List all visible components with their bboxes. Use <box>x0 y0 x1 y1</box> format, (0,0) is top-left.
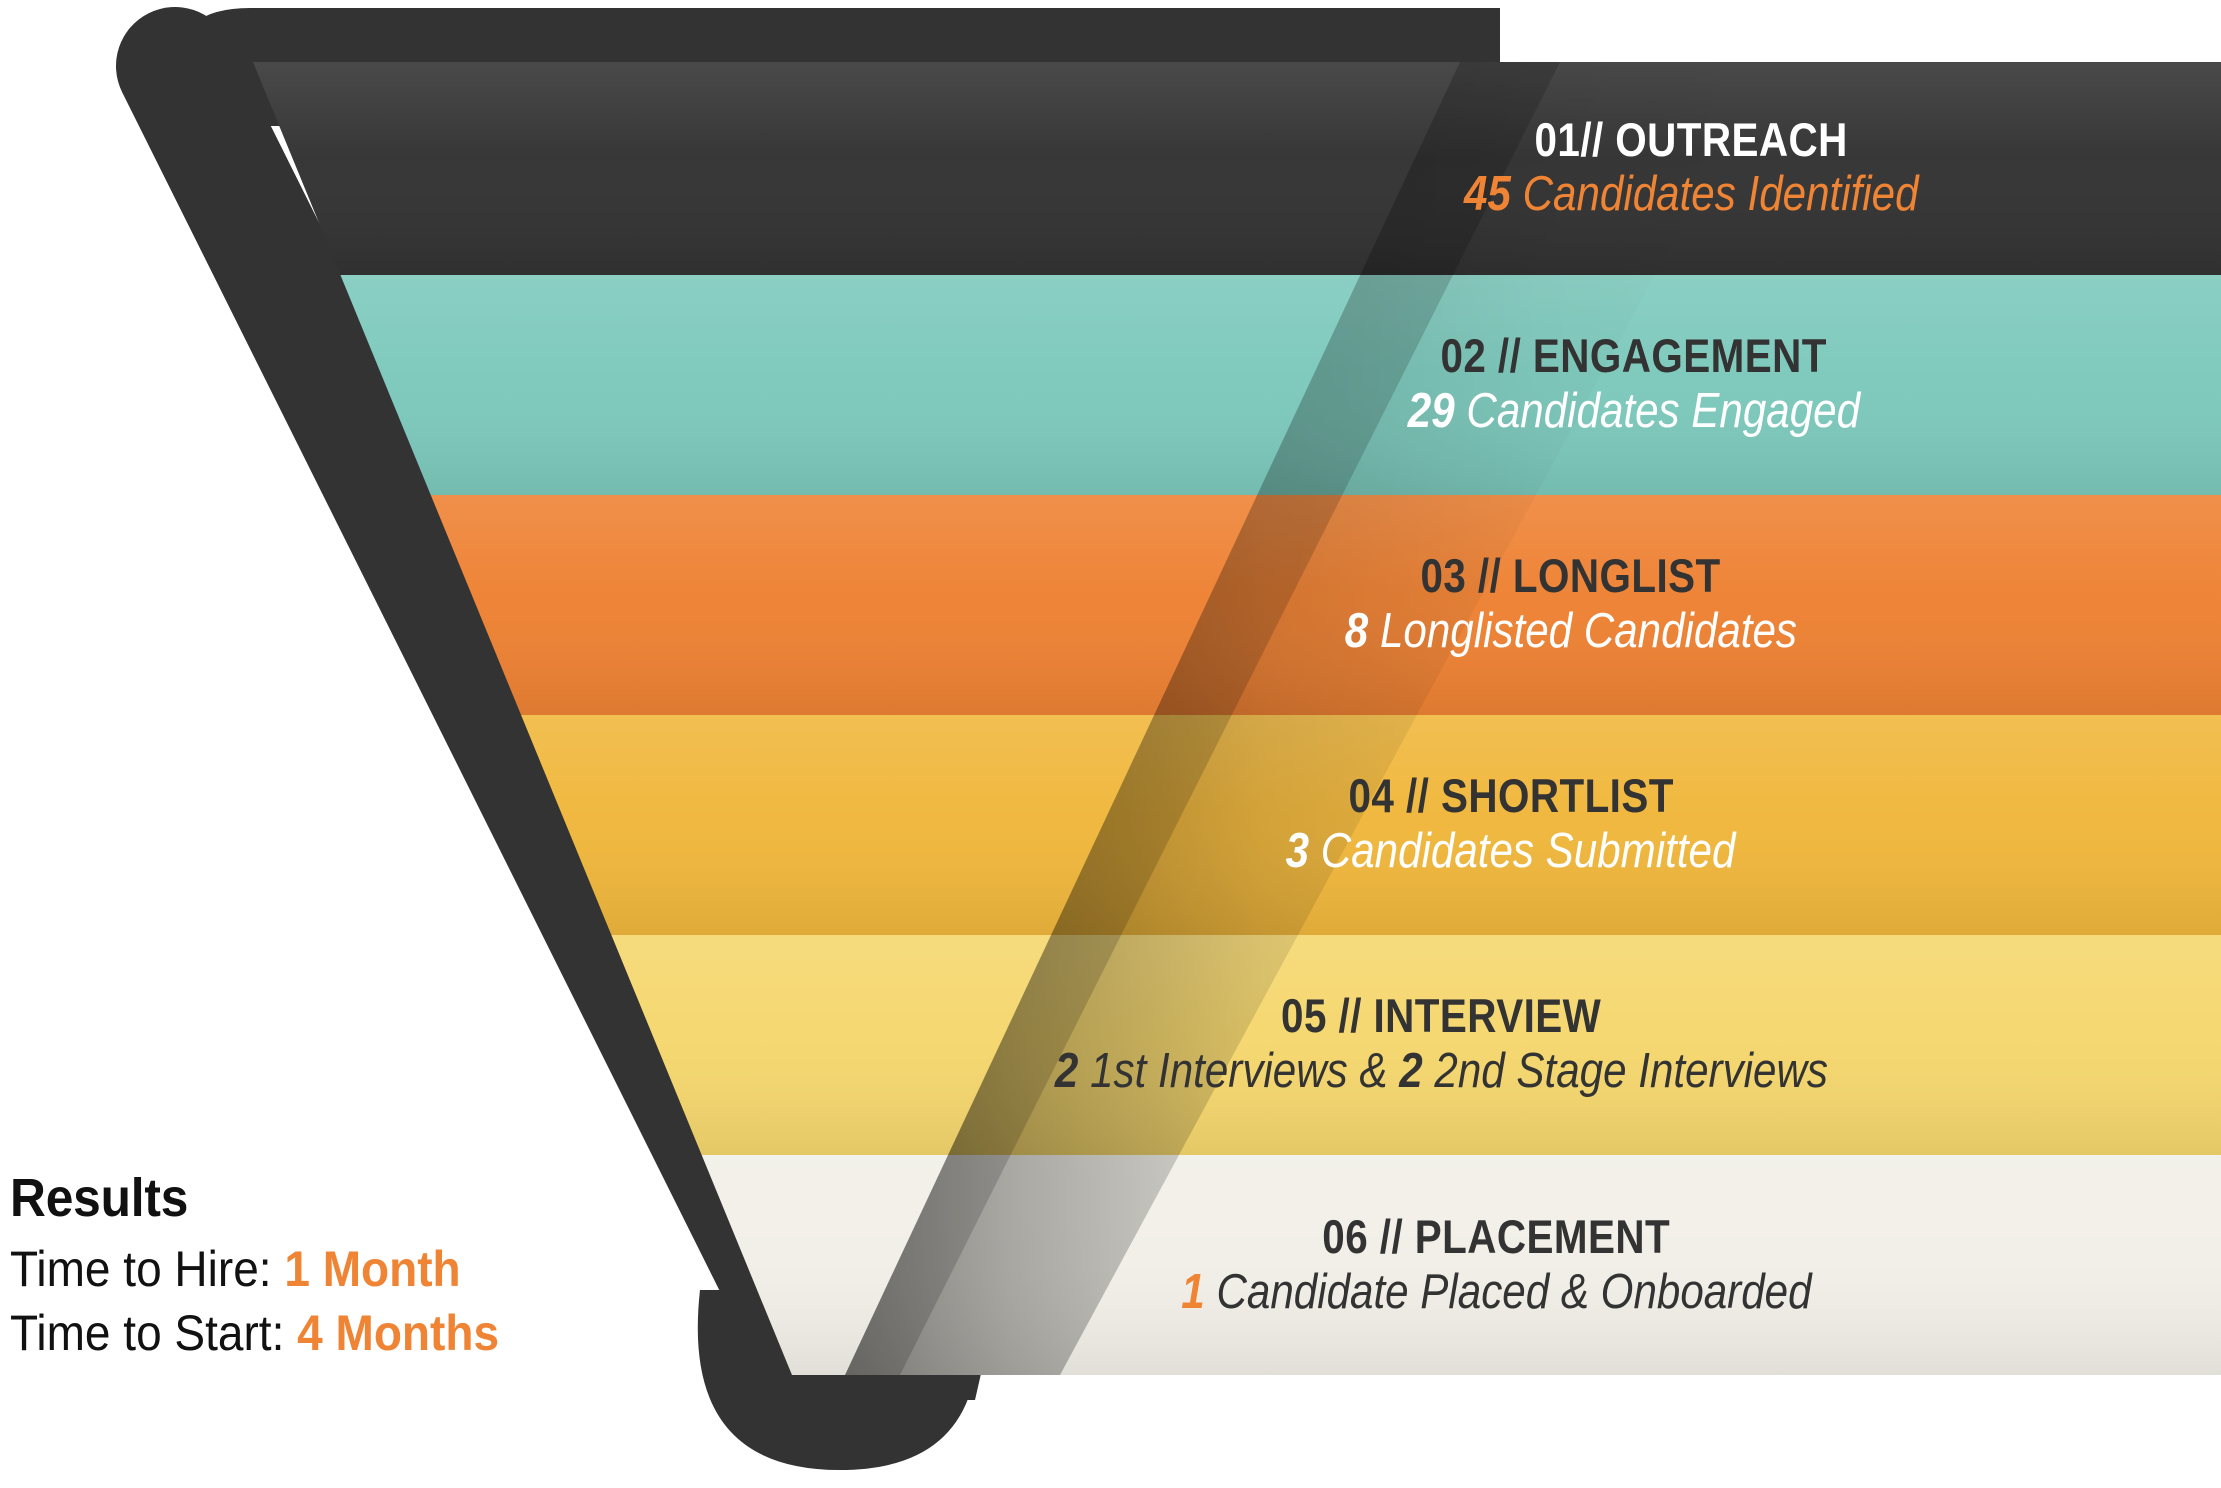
stage-count-interview-first: 2 <box>1054 1044 1077 1098</box>
results-time-to-start-value: 4 Months <box>297 1305 499 1361</box>
stage-subtext-placement: Candidate Placed & Onboarded <box>1216 1265 1811 1319</box>
results-time-to-hire-label: Time to Hire: <box>10 1241 272 1297</box>
stage-subtext-shortlist: Candidates Submitted <box>1321 824 1736 878</box>
stage-count-interview-second: 2 <box>1399 1044 1422 1098</box>
stage-title-engagement: 02 // ENGAGEMENT <box>1440 331 1826 381</box>
stage-row-outreach: 01// OUTREACH 45 Candidates Identified <box>1161 62 2221 275</box>
stage-subtitle-interview: 2 1st Interviews & 2 2nd Stage Interview… <box>1054 1045 1827 1099</box>
stage-count-engagement: 29 <box>1407 384 1454 438</box>
stage-row-longlist: 03 // LONGLIST 8 Longlisted Candidates <box>921 495 2221 715</box>
results-heading: Results <box>10 1167 599 1229</box>
stage-subtitle-longlist: 8 Longlisted Candidates <box>1345 605 1797 659</box>
results-time-to-hire: Time to Hire: 1 Month <box>10 1237 599 1301</box>
stage-title-interview: 05 // INTERVIEW <box>1281 991 1601 1041</box>
stage-subtitle-shortlist: 3 Candidates Submitted <box>1286 825 1736 879</box>
stage-row-placement: 06 // PLACEMENT 1 Candidate Placed & Onb… <box>771 1155 2221 1377</box>
stage-row-interview: 05 // INTERVIEW 2 1st Interviews & 2 2nd… <box>661 935 2221 1155</box>
stage-count-longlist: 8 <box>1345 604 1368 658</box>
stage-subtitle-engagement: 29 Candidates Engaged <box>1407 385 1859 439</box>
funnel-diagram: 01// OUTREACH 45 Candidates Identified 0… <box>0 0 2221 1488</box>
stage-count-placement: 1 <box>1181 1265 1204 1319</box>
stage-title-longlist: 03 // LONGLIST <box>1421 551 1721 601</box>
stage-row-engagement: 02 // ENGAGEMENT 29 Candidates Engaged <box>1046 275 2221 495</box>
stage-subtext-outreach: Candidates Identified <box>1522 167 1918 221</box>
stage-subtext-interview-second: 2nd Stage Interviews <box>1434 1044 1828 1098</box>
stage-subtitle-outreach: 45 Candidates Identified <box>1464 168 1919 222</box>
stage-subtext-engagement: Candidates Engaged <box>1466 384 1860 438</box>
results-time-to-start-label: Time to Start: <box>10 1305 284 1361</box>
stage-row-shortlist: 04 // SHORTLIST 3 Candidates Submitted <box>801 715 2221 935</box>
stage-count-outreach: 45 <box>1464 167 1511 221</box>
stage-subtitle-placement: 1 Candidate Placed & Onboarded <box>1181 1266 1811 1320</box>
stage-count-shortlist: 3 <box>1286 824 1309 878</box>
stage-subtext-interview-first: 1st Interviews & <box>1090 1044 1387 1098</box>
results-time-to-hire-value: 1 Month <box>284 1241 460 1297</box>
stage-title-outreach: 01// OUTREACH <box>1534 115 1847 165</box>
stage-title-shortlist: 04 // SHORTLIST <box>1348 771 1673 821</box>
stage-title-placement: 06 // PLACEMENT <box>1322 1212 1670 1262</box>
stage-subtext-longlist: Longlisted Candidates <box>1380 604 1797 658</box>
results-time-to-start: Time to Start: 4 Months <box>10 1301 599 1365</box>
results-panel: Results Time to Hire: 1 Month Time to St… <box>10 1167 650 1365</box>
